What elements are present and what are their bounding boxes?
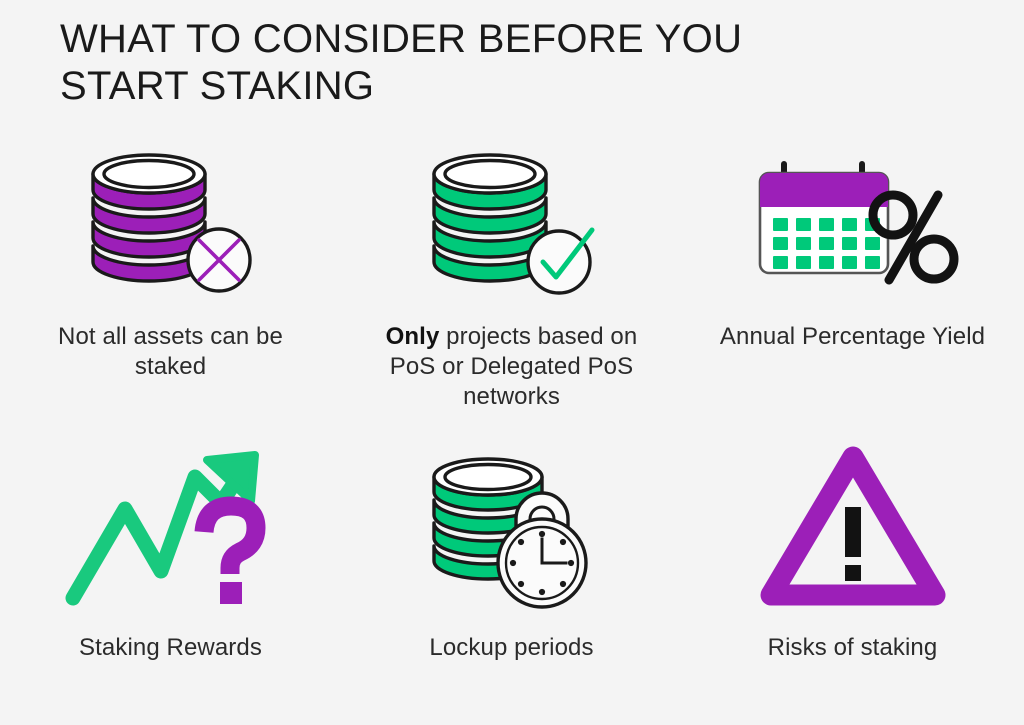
page-title-line-1: WHAT TO CONSIDER BEFORE YOU [60,16,800,63]
green-coin-stack-with-clock-padlock-icon [402,435,622,615]
card-caption-emphasis: Only [386,323,440,350]
infographic-canvas: WHAT TO CONSIDER BEFORE YOU START STAKIN… [0,0,1024,723]
calendar-with-percent-sign-icon [743,140,963,310]
purple-warning-triangle-exclamation-icon [743,435,963,615]
card-staking-rewards: Staking Rewards [0,435,341,725]
page-title-line-2: START STAKING [60,63,800,110]
card-lockup-periods: Lockup periods [341,435,682,725]
rising-arrow-with-question-mark-icon [61,435,281,615]
card-not-all-assets: Not all assets can be staked [0,140,341,435]
card-caption-lockup-periods: Lockup periods [367,633,657,663]
consideration-grid: Not all assets can be staked [0,140,1024,725]
card-caption-annual-percentage-yield: Annual Percentage Yield [708,322,998,352]
card-annual-percentage-yield: Annual Percentage Yield [682,140,1023,435]
purple-coin-stack-with-x-badge-icon [61,140,281,310]
page-title: WHAT TO CONSIDER BEFORE YOU START STAKIN… [60,16,800,110]
card-caption-pos-projects: Only projects based on PoS or Delegated … [367,322,657,412]
card-risks-of-staking: Risks of staking [682,435,1023,725]
card-pos-projects: Only projects based on PoS or Delegated … [341,140,682,435]
green-coin-stack-with-check-badge-icon [402,140,622,310]
card-caption-staking-rewards: Staking Rewards [26,633,316,663]
card-caption-not-all-assets: Not all assets can be staked [26,322,316,382]
card-caption-risks-of-staking: Risks of staking [708,633,998,663]
